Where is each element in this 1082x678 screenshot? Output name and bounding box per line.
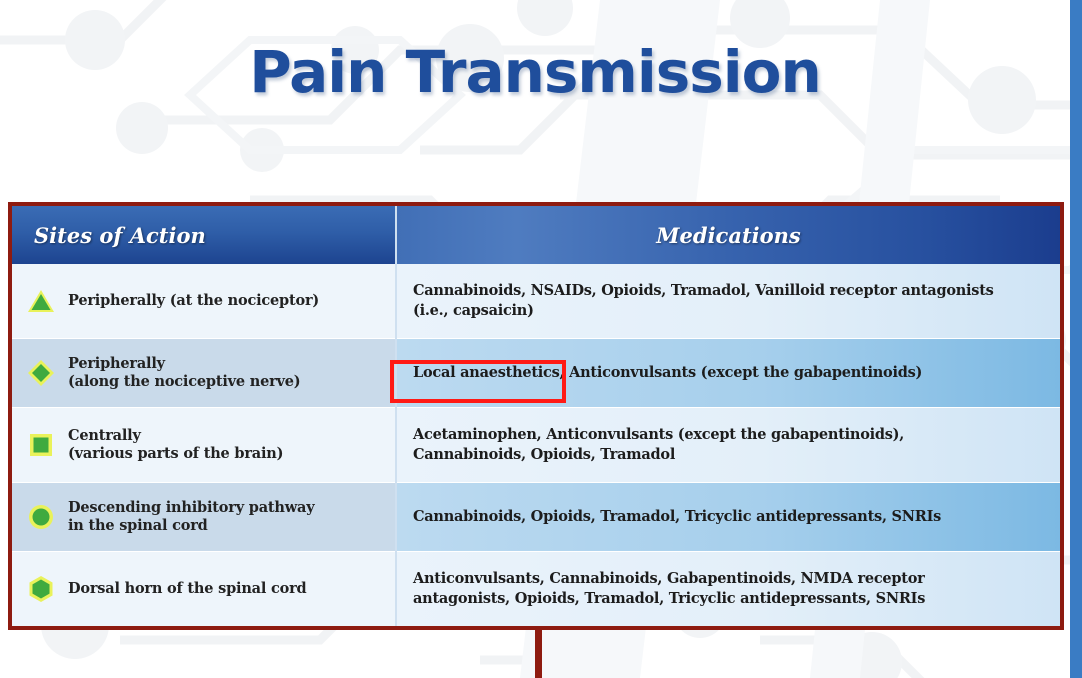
site-cell: Centrally (various parts of the brain) <box>12 407 396 482</box>
page-title: Pain Transmission <box>0 38 1070 106</box>
column-header-medications: Medications <box>396 206 1060 264</box>
site-label: Peripherally (along the nociceptive nerv… <box>68 355 300 391</box>
medications-text: Cannabinoids, Opioids, Tramadol, Tricycl… <box>413 507 1046 527</box>
table-header-row: Sites of Action Medications <box>12 206 1060 264</box>
medications-cell: Anticonvulsants, Cannabinoids, Gabapenti… <box>396 551 1060 626</box>
table-row[interactable]: Centrally (various parts of the brain) A… <box>12 407 1060 482</box>
table-row[interactable]: Descending inhibitory pathway in the spi… <box>12 483 1060 552</box>
diamond-marker <box>26 358 56 388</box>
table-row[interactable]: Peripherally (at the nociceptor) Cannabi… <box>12 264 1060 339</box>
medications-cell: Acetaminophen, Anticonvulsants (except t… <box>396 407 1060 482</box>
connector-line <box>535 630 542 678</box>
site-label: Descending inhibitory pathway in the spi… <box>68 499 314 535</box>
medications-cell: Local anaesthetics, Anticonvulsants (exc… <box>396 339 1060 408</box>
site-cell: Peripherally (along the nociceptive nerv… <box>12 339 396 408</box>
medications-text: Anticonvulsants, Cannabinoids, Gabapenti… <box>413 569 1046 608</box>
medications-text: Local anaesthetics, Anticonvulsants (exc… <box>413 363 1046 383</box>
table-row[interactable]: Dorsal horn of the spinal cord Anticonvu… <box>12 551 1060 626</box>
site-label: Centrally (various parts of the brain) <box>68 427 283 463</box>
site-label: Dorsal horn of the spinal cord <box>68 580 307 598</box>
medications-text: Acetaminophen, Anticonvulsants (except t… <box>413 425 1046 464</box>
medications-cell: Cannabinoids, NSAIDs, Opioids, Tramadol,… <box>396 264 1060 339</box>
slide-canvas: Pain Transmission Sites of Action Medica… <box>0 0 1082 678</box>
site-label: Peripherally (at the nociceptor) <box>68 292 319 310</box>
table-row[interactable]: Peripherally (along the nociceptive nerv… <box>12 339 1060 408</box>
sites-medications-table: Sites of Action Medications <box>12 206 1060 626</box>
site-cell: Peripherally (at the nociceptor) <box>12 264 396 339</box>
right-edge-bar <box>1070 0 1082 678</box>
site-cell: Dorsal horn of the spinal cord <box>12 551 396 626</box>
medications-text: Cannabinoids, NSAIDs, Opioids, Tramadol,… <box>413 281 1046 320</box>
pain-transmission-table: Sites of Action Medications <box>8 202 1064 630</box>
medications-cell: Cannabinoids, Opioids, Tramadol, Tricycl… <box>396 483 1060 552</box>
square-marker <box>26 430 56 460</box>
site-cell: Descending inhibitory pathway in the spi… <box>12 483 396 552</box>
hexagon-marker <box>26 574 56 604</box>
triangle-marker <box>26 286 56 316</box>
circle-marker <box>26 502 56 532</box>
column-header-sites-of-action: Sites of Action <box>12 206 396 264</box>
